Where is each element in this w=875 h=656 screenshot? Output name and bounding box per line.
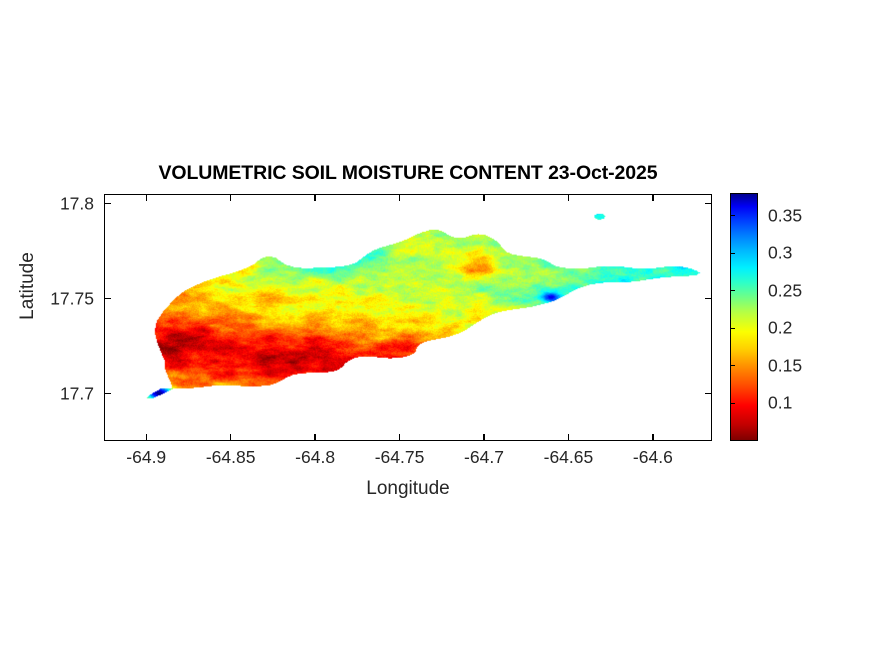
y-tick-label: 17.75 xyxy=(50,288,94,309)
matlab-figure: VOLUMETRIC SOIL MOISTURE CONTENT 23-Oct-… xyxy=(0,0,875,656)
x-tick-mark xyxy=(652,434,653,441)
y-axis-label: Latitude xyxy=(17,206,39,366)
x-tick-label: -64.75 xyxy=(375,447,425,468)
colorbar-tick-label: 0.1 xyxy=(768,393,792,414)
colorbar-tick-label: 0.15 xyxy=(768,355,802,376)
colorbar-tick-mark xyxy=(730,403,735,404)
colorbar-tick-mark xyxy=(730,215,735,216)
y-tick-mark xyxy=(104,203,111,204)
colorbar-tick-label: 0.25 xyxy=(768,280,802,301)
x-axis-label: Longitude xyxy=(104,478,712,500)
y-tick-label: 17.7 xyxy=(60,383,94,404)
x-tick-mark xyxy=(230,194,231,201)
y-tick-mark xyxy=(104,298,111,299)
y-tick-mark xyxy=(705,298,712,299)
colorbar-tick-label: 0.35 xyxy=(768,205,802,226)
x-tick-label: -64.9 xyxy=(126,447,166,468)
x-tick-mark xyxy=(230,434,231,441)
x-tick-label: -64.8 xyxy=(295,447,335,468)
x-tick-label: -64.7 xyxy=(464,447,504,468)
map-axes xyxy=(104,194,712,441)
x-tick-label: -64.65 xyxy=(544,447,594,468)
soil-moisture-heatmap xyxy=(105,195,711,440)
x-tick-mark xyxy=(314,434,315,441)
colorbar-tick-mark xyxy=(730,253,735,254)
x-tick-mark xyxy=(483,194,484,201)
colorbar-tick-mark xyxy=(730,328,735,329)
y-tick-mark xyxy=(705,393,712,394)
colorbar-tick-mark xyxy=(730,365,735,366)
x-tick-mark xyxy=(399,434,400,441)
x-tick-mark xyxy=(483,434,484,441)
x-tick-mark xyxy=(568,434,569,441)
x-tick-label: -64.6 xyxy=(633,447,673,468)
y-tick-mark xyxy=(104,393,111,394)
x-tick-mark xyxy=(146,434,147,441)
x-tick-mark xyxy=(146,194,147,201)
y-tick-mark xyxy=(705,203,712,204)
colorbar-tick-label: 0.2 xyxy=(768,318,792,339)
y-tick-label: 17.8 xyxy=(60,193,94,214)
x-tick-mark xyxy=(568,194,569,201)
x-tick-mark xyxy=(652,194,653,201)
x-tick-mark xyxy=(314,194,315,201)
x-tick-mark xyxy=(399,194,400,201)
colorbar-tick-label: 0.3 xyxy=(768,243,792,264)
page-title: VOLUMETRIC SOIL MOISTURE CONTENT 23-Oct-… xyxy=(104,162,712,185)
colorbar-tick-mark xyxy=(730,290,735,291)
x-tick-label: -64.85 xyxy=(206,447,256,468)
